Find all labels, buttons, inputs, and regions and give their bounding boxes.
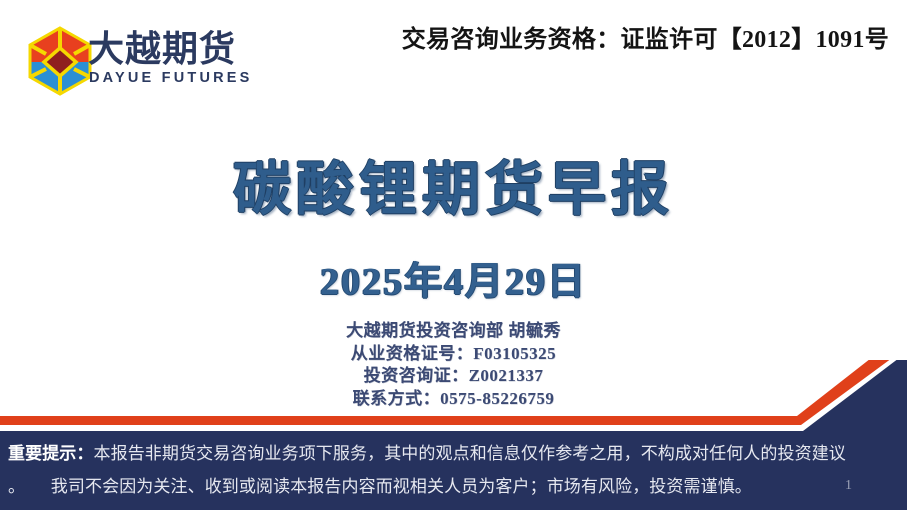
- logo-wordmark-en: DAYUE FUTURES: [89, 70, 253, 86]
- disclaimer-block: 重要提示：本报告非期货交易咨询业务项下服务，其中的观点和信息仅作参考之用，不构成…: [0, 437, 907, 510]
- page-number: 1: [845, 478, 852, 494]
- report-title: 碳酸锂期货早报: [0, 155, 907, 225]
- slide-canvas: 大越期货 DAYUE FUTURES 交易咨询业务资格：证监许可【2012】10…: [0, 0, 907, 510]
- dayue-hexagon-logo-icon: [26, 26, 94, 96]
- logo-wordmark-cn: 大越期货: [88, 28, 236, 70]
- disclaimer-line-1-text: 本报告非期货交易咨询业务项下服务，其中的观点和信息仅作参考之用，不构成对任何人的…: [94, 444, 846, 463]
- report-date: 2025年4月29日: [0, 258, 907, 306]
- disclaimer-line-1: 重要提示：本报告非期货交易咨询业务项下服务，其中的观点和信息仅作参考之用，不构成…: [8, 437, 897, 470]
- company-logo: 大越期货 DAYUE FUTURES: [26, 24, 241, 96]
- disclaimer-label: 重要提示：: [8, 444, 94, 463]
- license-statement: 交易咨询业务资格：证监许可【2012】1091号: [402, 19, 889, 54]
- disclaimer-line-2: 。 我司不会因为关注、收到或阅读本报告内容而视相关人员为客户；市场有风险，投资需…: [8, 470, 897, 503]
- contact-department-author: 大越期货投资咨询部 胡毓秀: [0, 320, 907, 343]
- logo-wordmark: 大越期货 DAYUE FUTURES: [88, 28, 243, 92]
